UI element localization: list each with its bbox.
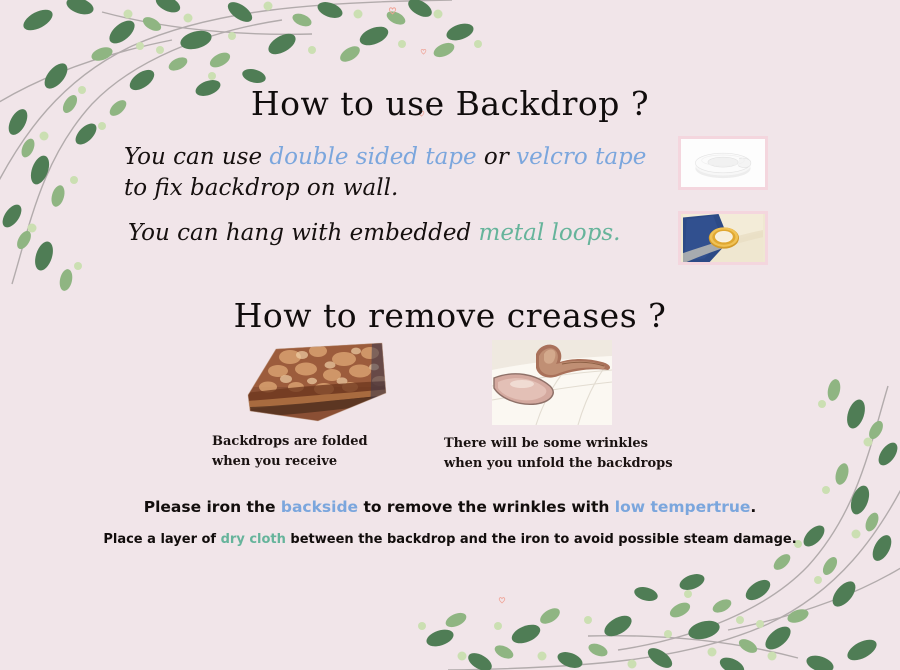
- hand-smoothing-wrinkles-image: [492, 340, 612, 425]
- footnote-iron-highlight-backside: backside: [281, 498, 358, 516]
- metal-loop-grommet-icon: [681, 214, 765, 262]
- instruction-tape-text-3: to fix backdrop on wall.: [124, 175, 398, 201]
- footnote-cloth-text-2: between the backdrop and the iron to avo…: [286, 532, 797, 547]
- double-sided-tape-roll-icon: [681, 139, 765, 187]
- thumbnail-metal-loop: [678, 211, 768, 265]
- footnote-cloth-text-1: Place a layer of: [103, 532, 220, 547]
- caption-wrinkle-line-1: There will be some wrinkles: [444, 434, 684, 454]
- instruction-metal-loops: You can hang with embedded metal loops.: [128, 218, 658, 249]
- footnote-dry-cloth: Place a layer of dry cloth between the b…: [0, 532, 900, 547]
- footnote-iron-text-2: to remove the wrinkles with: [358, 498, 615, 516]
- instruction-loops-text-1: You can hang with embedded: [128, 220, 479, 246]
- instruction-tape-text-1: You can use: [124, 144, 269, 170]
- caption-wrinkle-line-2: when you unfold the backdrops: [444, 454, 684, 474]
- instruction-tape-highlight-velcro-tape: velcro tape: [516, 144, 646, 170]
- photo-hand-smoothing-wrinkles: [492, 340, 612, 425]
- thumbnail-double-sided-tape: [678, 136, 768, 190]
- folded-backdrop-image: [232, 337, 392, 425]
- heart-accent-icon: [498, 596, 506, 604]
- instruction-tape-highlight-double-sided-tape: double sided tape: [269, 144, 476, 170]
- footnote-cloth-highlight-dry-cloth: dry cloth: [221, 532, 286, 547]
- footnote-iron-text-1: Please iron the: [144, 498, 281, 516]
- footnote-iron-backside: Please iron the backside to remove the w…: [0, 498, 900, 516]
- backdrop-instruction-card: How to use Backdrop ? You can use double…: [0, 0, 900, 670]
- heart-accent-icon: [388, 6, 397, 15]
- instruction-tape: You can use double sided tape or velcro …: [124, 142, 654, 203]
- caption-wrinkles: There will be some wrinkles when you unf…: [444, 434, 684, 474]
- page-title-how-to-use-backdrop: How to use Backdrop ?: [0, 84, 900, 123]
- instruction-loops-highlight-metal-loops: metal loops.: [479, 220, 621, 246]
- photo-folded-backdrop: [232, 337, 392, 425]
- heart-accent-icon: [420, 48, 427, 55]
- instruction-tape-text-2: or: [477, 144, 516, 170]
- caption-folded-line-2: when you receive: [212, 452, 412, 472]
- caption-folded-line-1: Backdrops are folded: [212, 432, 412, 452]
- footnote-iron-text-3: .: [750, 498, 756, 516]
- page-title-how-to-remove-creases: How to remove creases ?: [0, 296, 900, 335]
- caption-folded-backdrop: Backdrops are folded when you receive: [212, 432, 412, 472]
- footnote-iron-highlight-low-tempertrue: low tempertrue: [615, 498, 751, 516]
